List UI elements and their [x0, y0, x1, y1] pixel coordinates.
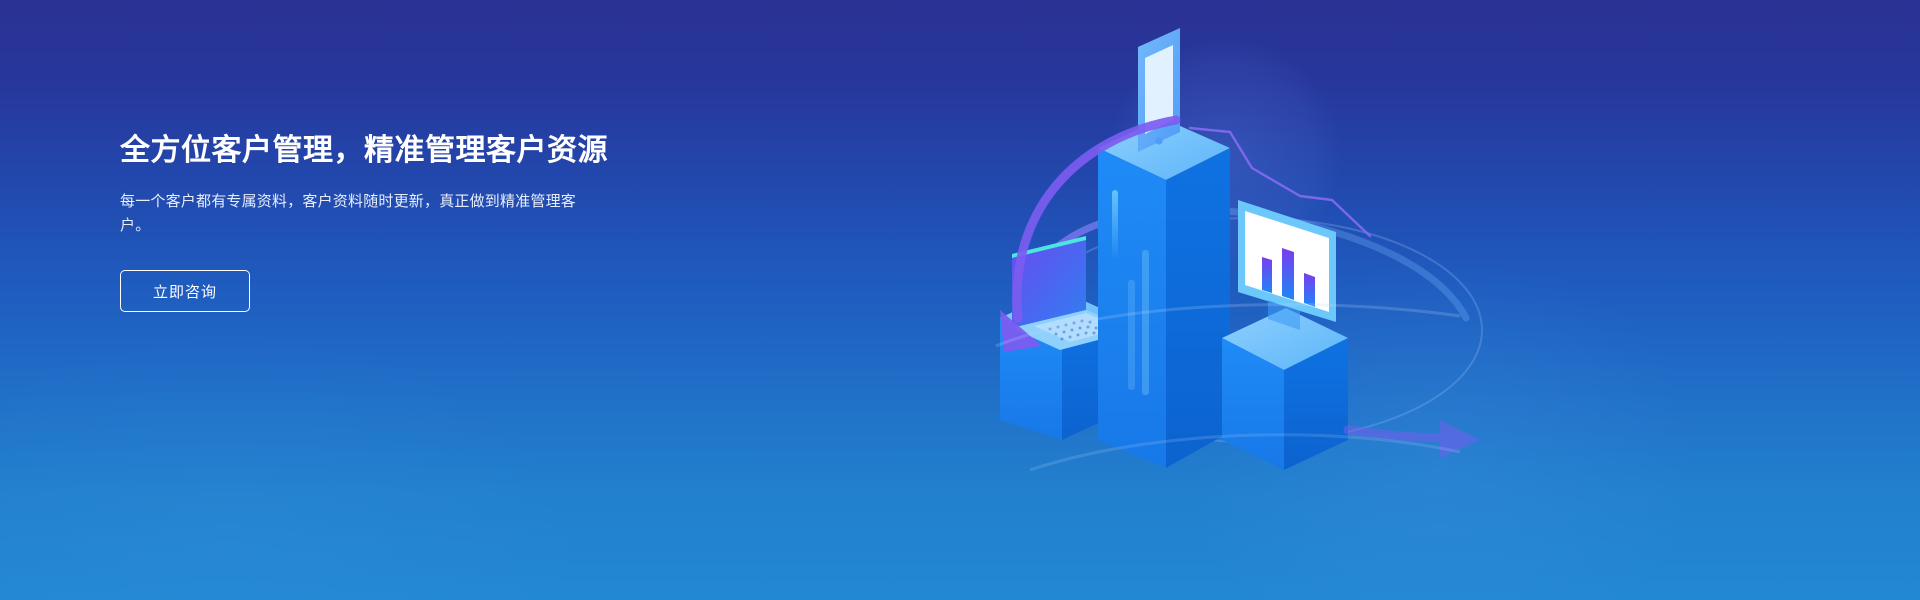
- chart-bar-2: [1282, 248, 1294, 300]
- hero-subtitle: 每一个客户都有专属资料，客户资料随时更新，真正做到精准管理客户。: [120, 190, 600, 239]
- pillar-center-sheen-c: [1142, 250, 1149, 395]
- background-glow-bottom-left: [0, 330, 580, 600]
- hero-banner: 全方位客户管理，精准管理客户资源 每一个客户都有专属资料，客户资料随时更新，真正…: [0, 0, 1920, 600]
- pillar-center: [1098, 118, 1230, 468]
- page-title: 全方位客户管理，精准管理客户资源: [120, 132, 740, 170]
- pillar-right: [1222, 308, 1348, 470]
- pillar-center-sheen-a: [1112, 190, 1118, 260]
- consult-now-button[interactable]: 立即咨询: [120, 270, 250, 312]
- chart-bar-1: [1262, 257, 1272, 293]
- tablet-icon: [1138, 28, 1180, 152]
- monitor-icon: [1238, 200, 1336, 330]
- pillar-center-sheen-b: [1128, 280, 1135, 390]
- hero-illustration: [900, 0, 1600, 600]
- tablet-home-button: [1155, 137, 1162, 144]
- hero-copy-block: 全方位客户管理，精准管理客户资源 每一个客户都有专属资料，客户资料随时更新，真正…: [120, 132, 740, 312]
- chart-bar-3: [1304, 273, 1315, 307]
